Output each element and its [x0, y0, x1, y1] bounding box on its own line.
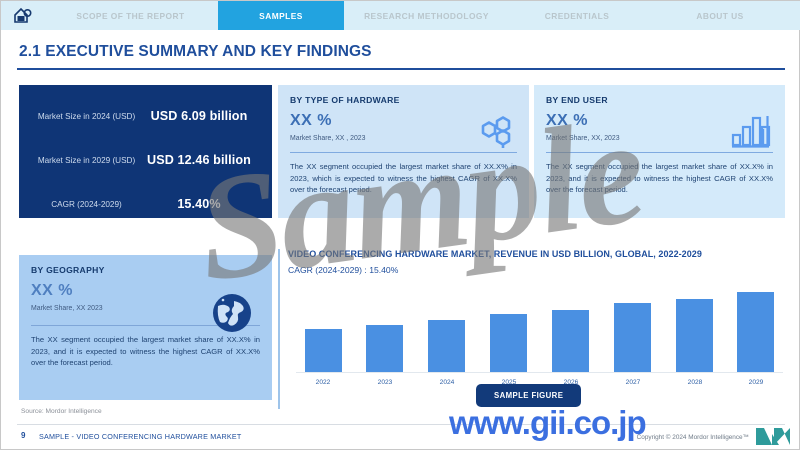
- bar-column[interactable]: [482, 314, 536, 372]
- mordor-logo-icon[interactable]: [1, 1, 43, 30]
- x-tick-label: 2029: [729, 379, 783, 386]
- sample-figure-badge: SAMPLE FIGURE: [476, 384, 581, 407]
- x-tick-label: 2024: [420, 379, 474, 386]
- x-tick-label: 2028: [668, 379, 722, 386]
- page-number: 9: [21, 431, 25, 440]
- title-divider: [17, 68, 785, 70]
- bar-2028[interactable]: [676, 299, 713, 372]
- nav-tab-label: SCOPE OF THE REPORT: [76, 11, 184, 21]
- nav-tab-label: RESEARCH METHODOLOGY: [364, 11, 489, 21]
- nav-tab-label: ABOUT US: [696, 11, 743, 21]
- card-title: BY END USER: [546, 95, 773, 105]
- metric-label: Market Size in 2024 (USD): [33, 111, 140, 122]
- x-tick-label: 2023: [358, 379, 412, 386]
- metric-label: Market Size in 2029 (USD): [33, 155, 140, 166]
- copyright-text: Copyright © 2024 Mordor Intelligence™: [637, 434, 749, 441]
- bar-2022[interactable]: [305, 329, 342, 372]
- metric-row: CAGR (2024-2029) 15.40%: [33, 182, 258, 226]
- metric-value: USD 6.09 billion: [140, 109, 258, 123]
- metric-row: Market Size in 2029 (USD) USD 12.46 bill…: [33, 138, 258, 182]
- molecule-hexagon-icon: [473, 113, 515, 158]
- bar-column[interactable]: [358, 325, 412, 372]
- card-title: BY GEOGRAPHY: [31, 265, 260, 275]
- bar-2026[interactable]: [552, 310, 589, 372]
- chart-plot-area: 2022 2023 2024 2025 2026 2027 2028 2029 …: [296, 293, 783, 386]
- top-navigation-bar: SCOPE OF THE REPORT SAMPLES RESEARCH MET…: [1, 1, 800, 30]
- bar-column[interactable]: [420, 320, 474, 372]
- metric-value: 15.40%: [140, 197, 258, 211]
- card-by-type-of-hardware: BY TYPE OF HARDWARE XX % Market Share, X…: [278, 85, 529, 218]
- nav-tab-scope-of-the-report[interactable]: SCOPE OF THE REPORT: [43, 1, 218, 30]
- chart-title: VIDEO CONFERENCING HARDWARE MARKET, REVE…: [288, 249, 785, 259]
- report-page: SCOPE OF THE REPORT SAMPLES RESEARCH MET…: [0, 0, 800, 450]
- bar-column[interactable]: [667, 299, 721, 372]
- nav-tab-credentials[interactable]: CREDENTIALS: [509, 1, 645, 30]
- mordor-brand-mark-icon: [755, 426, 791, 451]
- bar-2029[interactable]: [737, 292, 774, 372]
- bar-2024[interactable]: [428, 320, 465, 372]
- chart-bars: [296, 293, 783, 372]
- key-metrics-panel: Market Size in 2024 (USD) USD 6.09 billi…: [19, 85, 272, 218]
- card-title: BY TYPE OF HARDWARE: [290, 95, 517, 105]
- nav-tab-label: SAMPLES: [259, 11, 303, 21]
- bar-2023[interactable]: [366, 325, 403, 372]
- bar-chart-icon: [731, 113, 771, 156]
- nav-tab-samples[interactable]: SAMPLES: [218, 1, 344, 30]
- card-by-end-user: BY END USER XX % Market Share, XX, 2023 …: [534, 85, 785, 218]
- globe-icon: [210, 291, 254, 340]
- footer-divider: [17, 424, 785, 425]
- bar-column[interactable]: [543, 310, 597, 372]
- chart-subtitle: CAGR (2024-2029) : 15.40%: [288, 265, 785, 275]
- x-tick-label: 2027: [606, 379, 660, 386]
- nav-tab-label: CREDENTIALS: [545, 11, 610, 21]
- metric-label: CAGR (2024-2029): [33, 199, 140, 210]
- metric-row: Market Size in 2024 (USD) USD 6.09 billi…: [33, 94, 258, 138]
- revenue-bar-chart-panel: VIDEO CONFERENCING HARDWARE MARKET, REVE…: [278, 249, 785, 409]
- source-note: Source: Mordor Intelligence: [21, 408, 102, 415]
- nav-tab-research-methodology[interactable]: RESEARCH METHODOLOGY: [344, 1, 509, 30]
- nav-tab-about-us[interactable]: ABOUT US: [645, 1, 795, 30]
- bar-column[interactable]: [296, 329, 350, 372]
- bar-column[interactable]: [605, 303, 659, 372]
- bar-2025[interactable]: [490, 314, 527, 372]
- bar-column[interactable]: [729, 292, 783, 372]
- footer-title: SAMPLE - VIDEO CONFERENCING HARDWARE MAR…: [39, 432, 241, 441]
- url-watermark: www.gii.co.jp: [449, 404, 646, 442]
- card-description: The XX segment occupied the largest mark…: [546, 161, 773, 196]
- chart-axis-line: [296, 372, 783, 373]
- metric-value: USD 12.46 billion: [140, 153, 258, 167]
- card-by-geography: BY GEOGRAPHY XX % Market Share, XX 2023 …: [19, 255, 272, 400]
- bar-2027[interactable]: [614, 303, 651, 372]
- x-tick-label: 2022: [296, 379, 350, 386]
- card-description: The XX segment occupied the largest mark…: [290, 161, 517, 196]
- page-title: 2.1 EXECUTIVE SUMMARY AND KEY FINDINGS: [19, 43, 372, 61]
